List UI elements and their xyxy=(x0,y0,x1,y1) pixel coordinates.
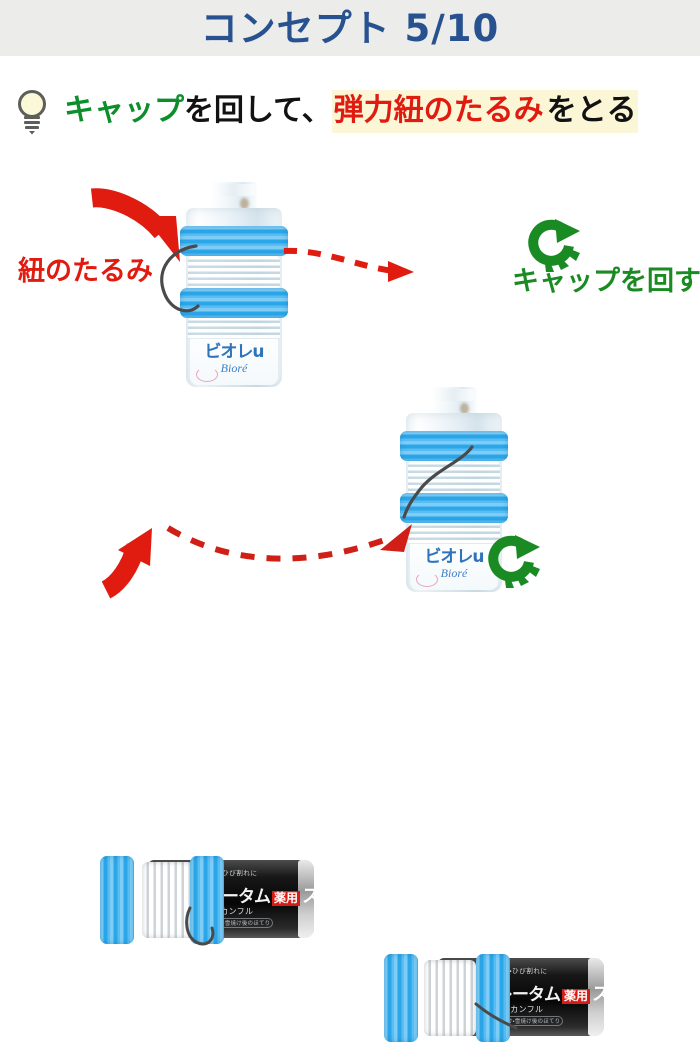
blue-band-inner xyxy=(190,856,224,944)
dashed-arrow-right-icon-row2 xyxy=(164,520,424,580)
blue-band-upper xyxy=(180,226,288,256)
blue-band-upper xyxy=(400,431,508,461)
lightbulb-icon-wrap xyxy=(0,87,64,135)
bottle-photo-before: ビオレu Bioré xyxy=(178,182,290,387)
caption-turn-cap: キャップを回す xyxy=(512,268,700,295)
stick-badge: 薬用 xyxy=(562,989,590,1004)
subtitle-segment-1: を回して、 xyxy=(184,93,332,128)
stick-name: スティック xyxy=(592,980,676,1006)
slide-root: コンセプト 5/10 キャップを回して、弾力紐のたるみをとる xyxy=(0,0,700,700)
blue-band-lower xyxy=(180,288,288,318)
bottle-label: ビオレu Bioré xyxy=(190,339,278,385)
title-band: コンセプト 5/10 xyxy=(0,0,700,56)
bottle-ribs-upper xyxy=(188,256,280,290)
stick-cap-ribs xyxy=(142,862,194,938)
blue-band-outer xyxy=(384,954,418,1042)
bottle-label-jp: ビオレu xyxy=(190,344,278,361)
subtitle-segment-0: キャップ xyxy=(64,93,184,128)
blue-band-lower xyxy=(400,493,508,523)
subtitle-text: キャップを回して、弾力紐のたるみをとる xyxy=(64,94,638,129)
blue-band-inner xyxy=(476,954,510,1042)
dashed-arrow-right-icon-row1 xyxy=(282,245,422,287)
bottle-label-swirl-icon xyxy=(196,367,218,382)
stick-photo-after: あれ・荒れ・かそき・ひび割れに メンソレータム 薬用 スティック メントール・d… xyxy=(376,946,606,1050)
bottle-cap xyxy=(434,389,474,401)
stick-cap-ribs xyxy=(424,960,476,1036)
bottle-ribs-upper xyxy=(408,461,500,495)
bottle-cap xyxy=(214,184,254,196)
subtitle-segment-2: 弾力紐のたるみ xyxy=(332,90,545,133)
blue-band-outer xyxy=(100,856,134,944)
subtitle-segment-3: をとる xyxy=(545,90,638,133)
bottle-ribs-lower xyxy=(188,317,280,341)
caption-cord-slack: 紐のたるみ xyxy=(18,258,153,285)
green-rotate-icon-row2 xyxy=(484,532,546,590)
stick-name: スティック xyxy=(302,882,386,908)
stick-badge: 薬用 xyxy=(272,891,300,906)
lightbulb-icon xyxy=(12,87,52,135)
subtitle-row: キャップを回して、弾力紐のたるみをとる xyxy=(0,80,700,142)
stick-photo-before: あれ・荒れ・かそき・ひび割れに メンソレータム 薬用 スティック メントール・d… xyxy=(86,848,316,952)
page-title: コンセプト 5/10 xyxy=(201,10,500,47)
